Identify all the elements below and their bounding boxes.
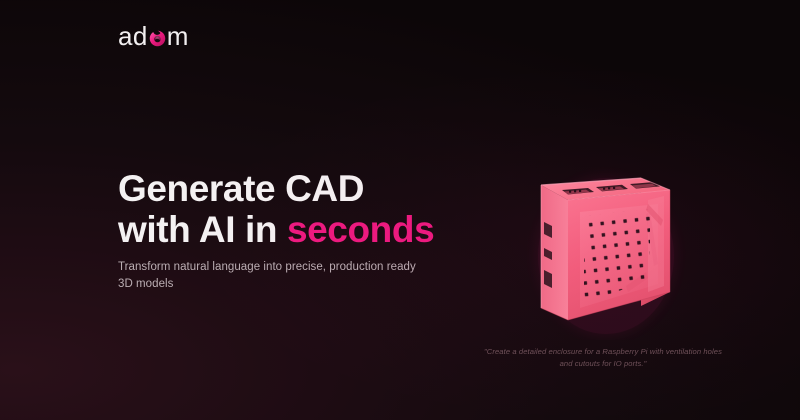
brand-logo-text-after: m [167,23,189,49]
brand-logo[interactable]: ad [118,22,189,50]
brand-logo-text: ad [118,23,189,49]
hero-headline-accent: seconds [287,209,434,250]
adam-petal-mark-icon [149,30,166,47]
hero-headline-line-2: with AI in seconds [118,209,458,250]
model-prompt-caption: "Create a detailed enclosure for a Raspb… [478,346,728,371]
hero-headline-plain: with AI in [118,209,287,250]
hero-background: ad [0,0,800,420]
hero-headline: Generate CAD with AI in seconds [118,168,458,251]
model-prompt-caption-line-1: "Create a detailed enclosure for a Raspb… [484,347,664,356]
raspberry-pi-enclosure-3d-model [498,160,708,340]
hero-subtitle: Transform natural language into precise,… [118,259,430,294]
brand-logo-text-before: ad [118,23,148,49]
hero-headline-line-1: Generate CAD [118,168,458,209]
